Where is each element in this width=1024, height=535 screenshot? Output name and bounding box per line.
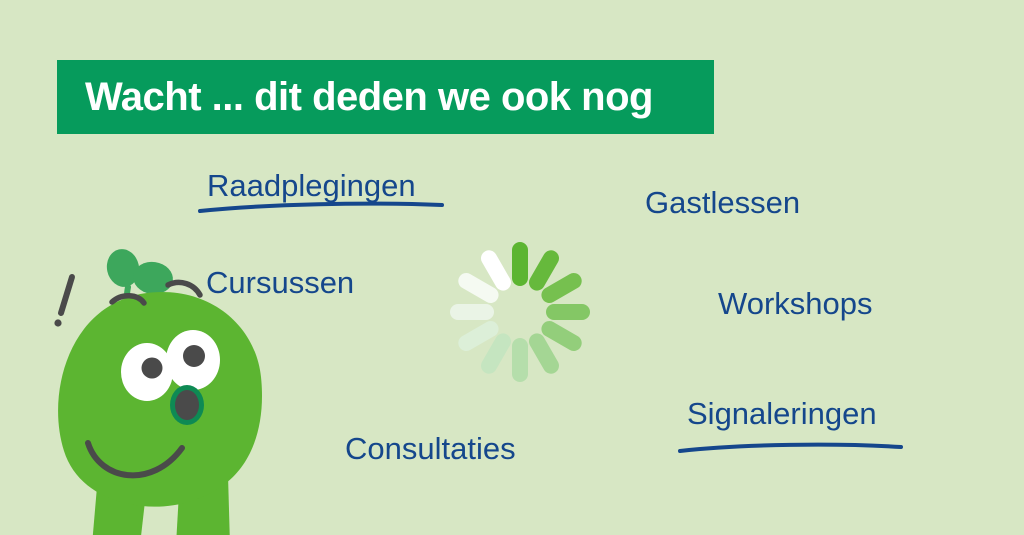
spinner-segment [512, 242, 528, 286]
nose-fill [175, 390, 199, 420]
spinner-segment [450, 304, 494, 320]
spinner-segment [512, 338, 528, 382]
mascot-body [58, 292, 262, 507]
exclamation-mark-icon [54, 277, 72, 327]
underline-signaleringen [678, 441, 903, 455]
pupil-right [183, 345, 205, 367]
spinner-segment [546, 304, 590, 320]
topic-label-raadplegingen: Raadplegingen [207, 170, 416, 201]
title-banner: Wacht ... dit deden we ook nog [57, 60, 714, 134]
topic-label-gastlessen: Gastlessen [645, 187, 800, 218]
topic-label-workshops: Workshops [718, 288, 873, 319]
topic-label-signaleringen: Signaleringen [687, 398, 877, 429]
topic-label-consultaties: Consultaties [345, 433, 516, 464]
pupil-left [142, 358, 163, 379]
underline-raadplegingen [198, 200, 444, 214]
mascot-illustration [30, 225, 300, 535]
loading-spinner-icon [430, 222, 610, 402]
slide-canvas: Wacht ... dit deden we ook nog Raadplegi… [0, 0, 1024, 535]
page-title: Wacht ... dit deden we ook nog [57, 77, 653, 117]
